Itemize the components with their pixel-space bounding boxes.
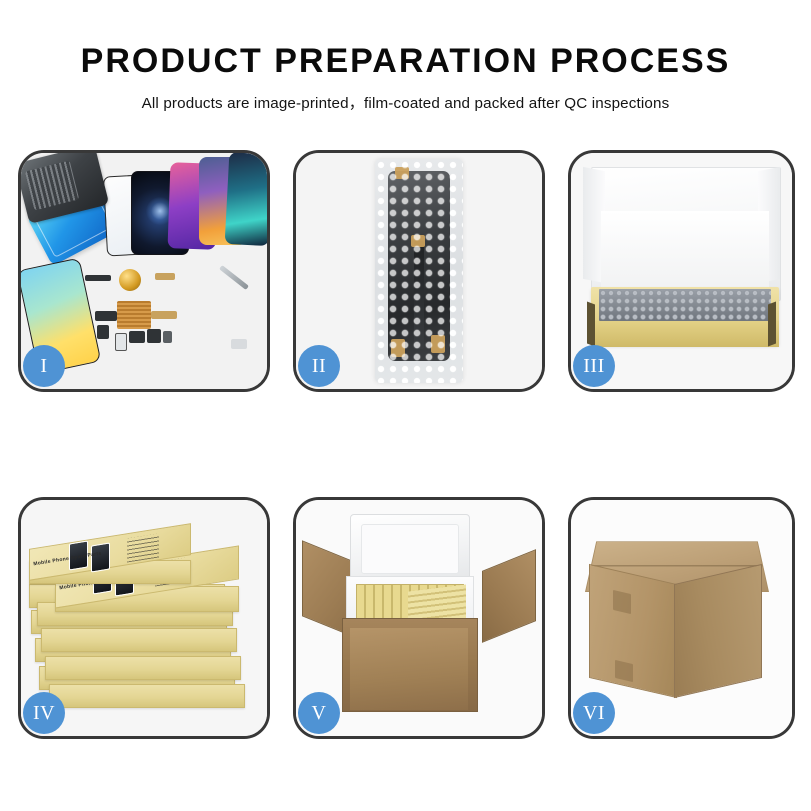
step-badge-2: II <box>298 345 340 387</box>
step-badge-5: V <box>298 692 340 734</box>
step-card-3: III <box>568 150 795 392</box>
step-image-1: I <box>21 153 267 389</box>
box-artwork-text-lines <box>127 533 159 562</box>
foam-box-lid <box>350 514 470 584</box>
small-part-icon <box>85 275 111 281</box>
product-preparation-infographic: PRODUCT PREPARATION PROCESS All products… <box>0 0 811 811</box>
step-card-6: VI <box>568 497 795 739</box>
step-image-4: Mobile Phone Spare Parts Mobile Phone Sp… <box>21 500 267 736</box>
step-image-6: VI <box>571 500 792 736</box>
carton-flap-right <box>482 549 536 643</box>
process-steps-grid: I II <box>18 150 795 739</box>
retail-box <box>41 628 237 652</box>
page-subtitle: All products are image-printed，film-coat… <box>0 91 811 113</box>
retail-box <box>45 656 241 680</box>
retail-box <box>49 684 245 708</box>
page-title: PRODUCT PREPARATION PROCESS <box>0 44 811 80</box>
small-part-icon <box>151 311 177 319</box>
yellow-tray-front <box>591 321 779 347</box>
step-badge-3: III <box>573 345 615 387</box>
carton-left-face <box>589 564 677 698</box>
small-part-icon <box>115 333 127 351</box>
yellow-tray-side-right <box>768 302 776 347</box>
chip-array-icon <box>117 301 151 329</box>
step-badge-4: IV <box>23 692 65 734</box>
carton-right-face <box>674 564 762 698</box>
tape-strip-icon <box>613 590 631 614</box>
small-part-icon <box>163 331 172 343</box>
step-card-2: II <box>293 150 545 392</box>
retail-box-stack: Mobile Phone Spare Parts Mobile Phone Sp… <box>27 516 263 726</box>
speaker-part-icon <box>119 269 141 291</box>
yellow-tray-side-left <box>587 302 595 347</box>
step-badge-1: I <box>23 345 65 387</box>
tape-strip-icon <box>615 660 633 682</box>
step-card-4: Mobile Phone Spare Parts Mobile Phone Sp… <box>18 497 270 739</box>
step-image-5: V <box>296 500 542 736</box>
tweezers-icon <box>219 265 249 290</box>
step-badge-6: VI <box>573 692 615 734</box>
small-part-icon <box>97 325 109 339</box>
phone-screen-teal-icon <box>225 153 267 246</box>
small-part-icon <box>147 329 161 343</box>
small-part-icon <box>129 331 145 343</box>
bubble-wrap-overlay <box>375 159 463 383</box>
step-card-5: V <box>293 497 545 739</box>
step-image-3: III <box>571 153 792 389</box>
carton-front-face <box>350 628 468 710</box>
white-foam-insert <box>601 211 769 291</box>
small-part-icon <box>95 311 117 321</box>
small-part-icon <box>231 339 247 349</box>
step-card-1: I <box>18 150 270 392</box>
step-image-2: II <box>296 153 542 389</box>
bubble-padding-layer <box>599 289 771 321</box>
header: PRODUCT PREPARATION PROCESS All products… <box>0 0 811 113</box>
small-part-icon <box>155 273 175 280</box>
